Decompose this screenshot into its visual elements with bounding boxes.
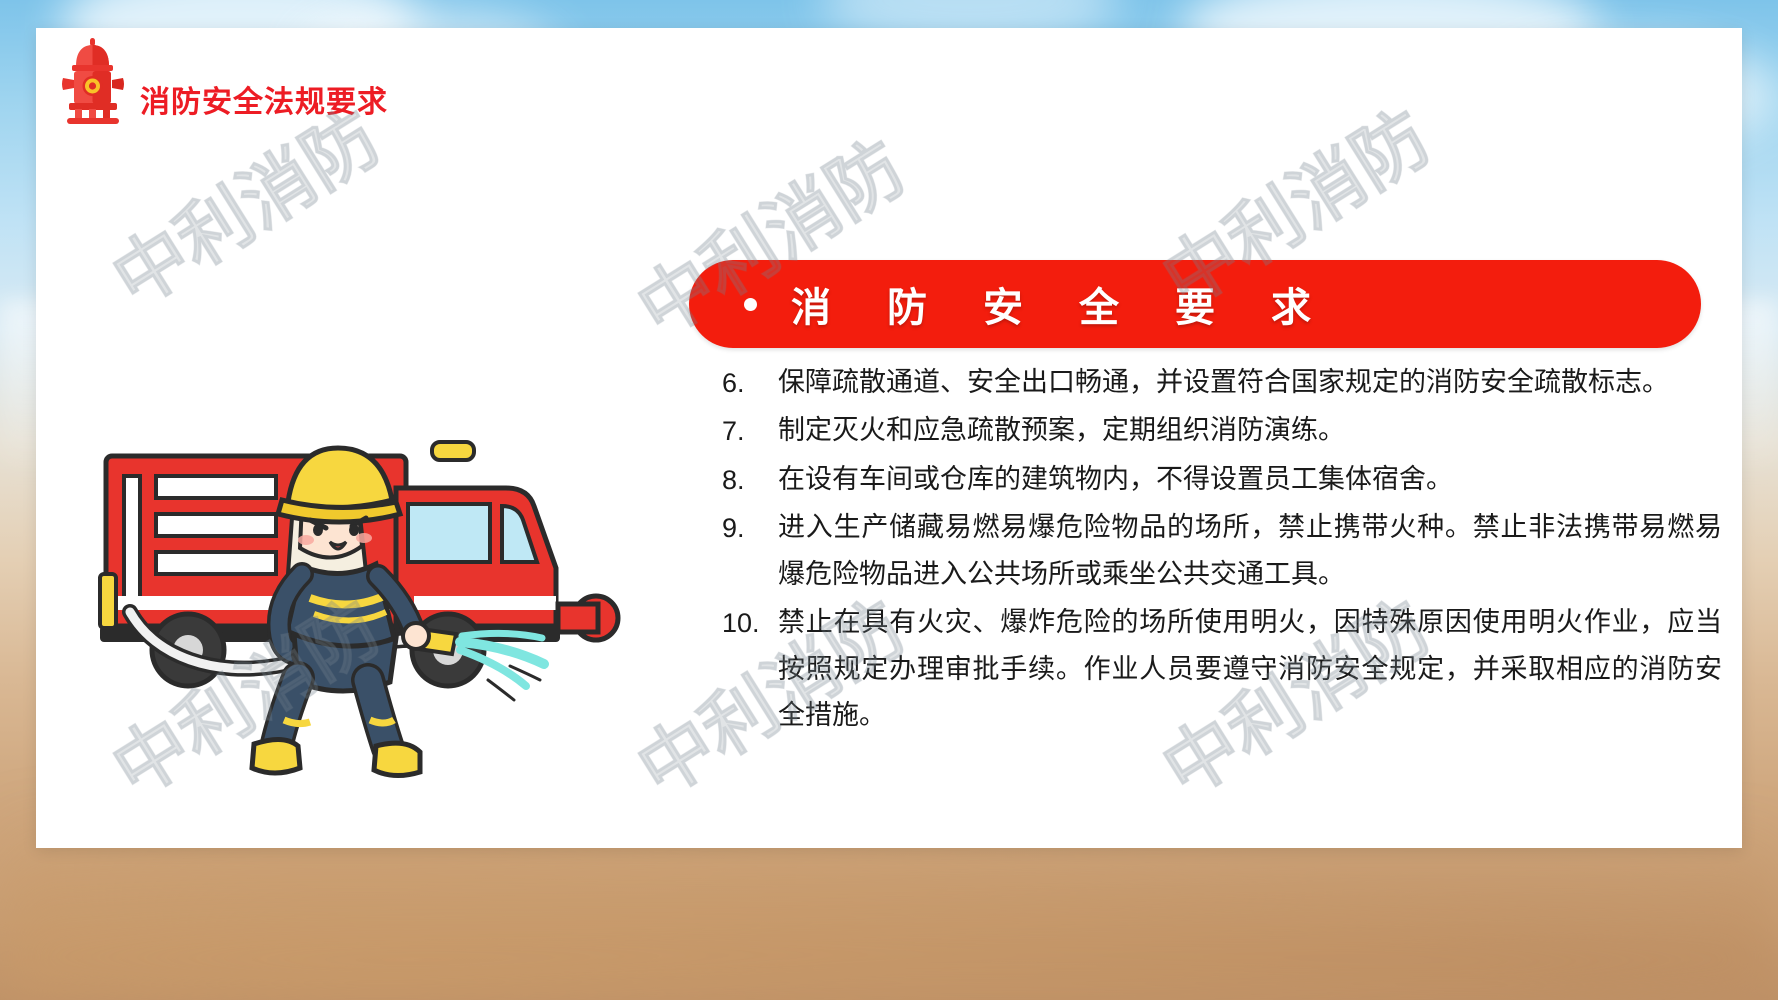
requirements-list: 6. 保障疏散通道、安全出口畅通，并设置符合国家规定的消防安全疏散标志。 7. … <box>722 360 1722 742</box>
list-item-text: 在设有车间或仓库的建筑物内，不得设置员工集体宿舍。 <box>778 457 1722 503</box>
page-title: 消防安全法规要求 <box>140 88 388 124</box>
section-banner: 消防安全要求 <box>689 260 1701 348</box>
list-item: 10. 禁止在具有火灾、爆炸危险的场所使用明火，因特殊原因使用明火作业，应当按照… <box>722 600 1722 739</box>
banner-bullet-icon <box>744 298 757 311</box>
firefighter-with-fire-truck-illustration <box>96 428 676 808</box>
header: 消防安全法规要求 <box>60 36 388 124</box>
list-item-number: 6. <box>722 360 778 406</box>
list-item-number: 7. <box>722 408 778 454</box>
list-item-number: 9. <box>722 505 778 551</box>
fire-hydrant-icon <box>60 36 126 124</box>
list-item-number: 8. <box>722 457 778 503</box>
list-item-text: 保障疏散通道、安全出口畅通，并设置符合国家规定的消防安全疏散标志。 <box>778 360 1722 406</box>
banner-title: 消防安全要求 <box>791 275 1367 333</box>
list-item-text: 制定灭火和应急疏散预案，定期组织消防演练。 <box>778 408 1722 454</box>
slide-background: 消防安全法规要求 <box>0 0 1778 1000</box>
list-item: 6. 保障疏散通道、安全出口畅通，并设置符合国家规定的消防安全疏散标志。 <box>722 360 1722 406</box>
content-card: 消防安全法规要求 <box>36 28 1742 848</box>
list-item-text: 进入生产储藏易燃易爆危险物品的场所，禁止携带火种。禁止非法携带易燃易爆危险物品进… <box>778 505 1722 598</box>
list-item: 8. 在设有车间或仓库的建筑物内，不得设置员工集体宿舍。 <box>722 457 1722 503</box>
list-item: 7. 制定灭火和应急疏散预案，定期组织消防演练。 <box>722 408 1722 454</box>
list-item-text: 禁止在具有火灾、爆炸危险的场所使用明火，因特殊原因使用明火作业，应当按照规定办理… <box>778 600 1722 739</box>
list-item-number: 10. <box>722 600 778 646</box>
list-item: 9. 进入生产储藏易燃易爆危险物品的场所，禁止携带火种。禁止非法携带易燃易爆危险… <box>722 505 1722 598</box>
